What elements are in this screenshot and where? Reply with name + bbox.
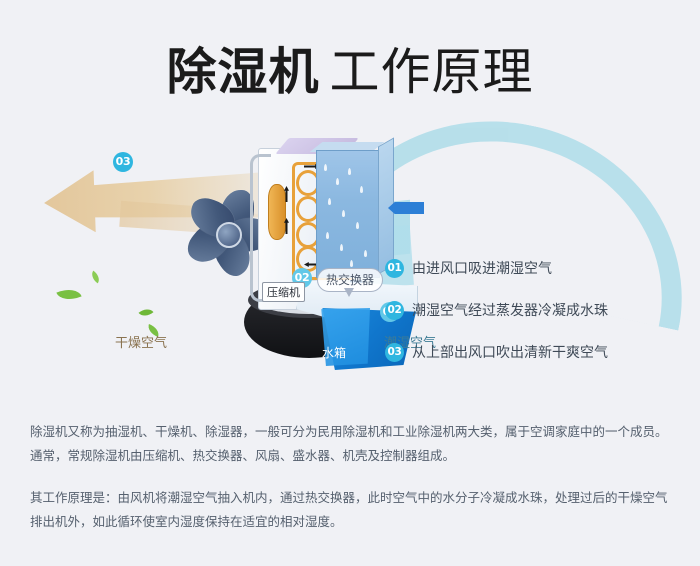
dry-air-label: 干燥空气 xyxy=(115,332,167,351)
condensate-drop xyxy=(326,232,329,239)
condensate-drop xyxy=(340,244,343,251)
legend-badge-02: 02 xyxy=(385,301,404,320)
receiver-cylinder-icon xyxy=(268,184,286,240)
legend-item: 02 潮湿空气经过蒸发器冷凝成水珠 xyxy=(385,300,685,320)
page-title-primary: 除湿机 xyxy=(167,43,320,101)
condensate-drop xyxy=(348,168,351,175)
legend-list: 01 由进风口吸进潮湿空气 02 潮湿空气经过蒸发器冷凝成水珠 03 从上部出风… xyxy=(385,258,685,384)
page-title: 除湿机工作原理 xyxy=(0,32,700,104)
condensate-drop xyxy=(328,198,331,205)
condensate-drop xyxy=(336,178,339,185)
page-title-secondary: 工作原理 xyxy=(330,43,534,101)
condensate-drop xyxy=(342,210,345,217)
compressor-label: 压缩机 xyxy=(262,282,305,302)
diagram-badge-03: 03 xyxy=(113,152,133,172)
legend-text-02: 潮湿空气经过蒸发器冷凝成水珠 xyxy=(412,300,608,320)
legend-item: 03 从上部出风口吹出清新干爽空气 xyxy=(385,342,685,362)
condensate-drop xyxy=(350,260,353,267)
legend-badge-03: 03 xyxy=(385,343,404,362)
water-tank-label: 水箱 xyxy=(322,344,346,361)
description-paragraph-1: 除湿机又称为抽湿机、干燥机、除湿器，一般可分为民用除湿机和工业除湿机两大类，属于… xyxy=(30,420,675,468)
condensate-drop xyxy=(360,186,363,193)
legend-text-03: 从上部出风口吹出清新干爽空气 xyxy=(412,342,608,362)
infographic-page: 除湿机工作原理 xyxy=(0,0,700,566)
condensate-drop xyxy=(356,222,359,229)
heat-exchanger-callout-tail xyxy=(344,288,354,297)
leaf-icon xyxy=(139,305,154,320)
legend-item: 01 由进风口吸进潮湿空气 xyxy=(385,258,685,278)
condensate-drop xyxy=(364,250,367,257)
intake-arrow-icon xyxy=(388,202,424,214)
leaf-icon xyxy=(56,284,81,304)
description-block: 除湿机又称为抽湿机、干燥机、除湿器，一般可分为民用除湿机和工业除湿机两大类，属于… xyxy=(30,420,675,534)
description-paragraph-2: 其工作原理是：由风机将潮湿空气抽入机内，通过热交换器，此时空气中的水分子冷凝成水… xyxy=(30,486,675,534)
condensate-drop xyxy=(324,164,327,171)
leaf-icon xyxy=(89,271,103,284)
legend-text-01: 由进风口吸进潮湿空气 xyxy=(412,258,552,278)
legend-badge-01: 01 xyxy=(385,259,404,278)
